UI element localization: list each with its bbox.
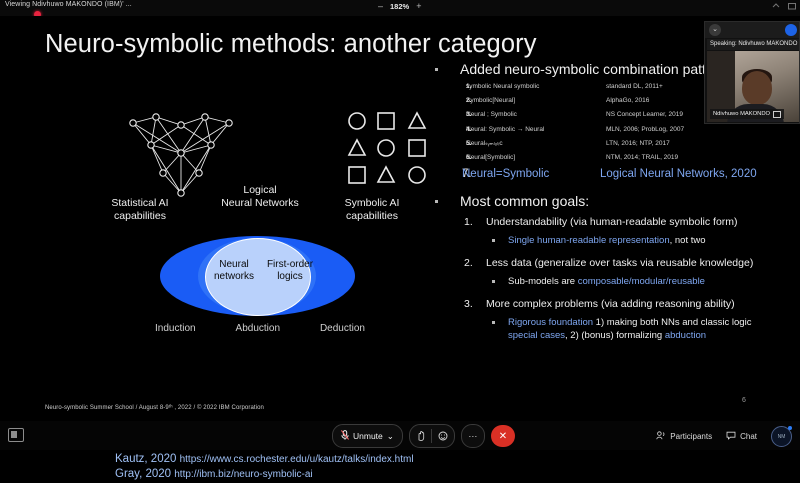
goal-2-sub: Sub-models are composable/modular/reusab…: [432, 275, 777, 288]
caption-lnn-line2: Neural Networks: [221, 197, 299, 209]
participant-name-text: Ndivhuwo MAKONDO: [713, 109, 770, 119]
unmute-button[interactable]: Unmute ⌄: [332, 424, 403, 448]
reference-1-text: Kautz, 2020: [115, 453, 180, 465]
toolbar-center-controls: Unmute ⌄ ··· ✕: [332, 424, 515, 448]
goal-3-text: More complex problems (via adding reason…: [486, 298, 735, 310]
meeting-screen-share-window: Viewing Ndivhuwo MAKONDO (IBM)' ... – 18…: [0, 0, 800, 450]
pattern-6-right: Logical Neural Networks, 2020: [600, 168, 760, 181]
reference-2-text: Gray, 2020: [115, 468, 174, 480]
zoom-out-button[interactable]: –: [378, 2, 383, 11]
video-tile-action-icon[interactable]: [785, 24, 797, 36]
venn-fol-line2: logics: [277, 271, 303, 282]
participants-button[interactable]: Participants: [656, 431, 712, 442]
pattern-4-left: Neuralₛᵧₘₗₒₗᵢᴄ: [466, 140, 606, 148]
reaction-smiley-icon[interactable]: [432, 431, 454, 441]
goal-3-sub: Rigorous foundation 1) making both NNs a…: [432, 316, 777, 342]
pattern-4-right: LTN, 2016; NTP, 2017: [606, 140, 756, 148]
pattern-0-number: 1.: [432, 83, 466, 91]
goal-2-sub-pre: Sub-models are: [508, 276, 578, 287]
symbolic-shapes-grid-icon: [345, 109, 445, 189]
goal-1-text: Understandability (via human-readable sy…: [486, 216, 738, 228]
video-feed: Ndivhuwo MAKONDO: [707, 51, 799, 122]
meeting-toolbar: Unmute ⌄ ··· ✕: [0, 421, 800, 450]
slide-page-number: 6: [742, 397, 746, 404]
raise-hand-icon[interactable]: [410, 431, 432, 441]
reasoning-mode-abduction: Abduction: [236, 323, 280, 334]
more-options-button[interactable]: ···: [461, 424, 485, 448]
pattern-6-number: 7.: [432, 168, 462, 181]
avatar[interactable]: NM: [771, 426, 792, 447]
reasoning-modes-row: Induction Abduction Deduction: [155, 323, 365, 334]
pattern-2-left: Neural ; Symbolic: [466, 111, 606, 119]
goal-1-sub-post: , not two: [670, 235, 706, 246]
pattern-1-number: 2.: [432, 97, 466, 105]
goal-3-number: 3.: [464, 297, 473, 311]
zoom-in-button[interactable]: +: [416, 2, 421, 11]
venn-label-first-order-logics: First-order logics: [264, 259, 316, 283]
venn-nn-line1: Neural: [219, 259, 248, 270]
goal-1-number: 1.: [464, 215, 473, 229]
venn-nn-line2: networks: [214, 271, 254, 282]
reference-1-url[interactable]: https://www.cs.rochester.edu/u/kautz/tal…: [180, 454, 414, 465]
goal-2: 2. Less data (generalize over tasks via …: [432, 256, 777, 270]
goal-3-sub-link2: special cases: [508, 330, 565, 341]
reference-row: Gray, 2020 http://ibm.biz/neuro-symbolic…: [115, 467, 414, 483]
reference-row: Kautz, 2020 https://www.cs.rochester.edu…: [115, 452, 414, 468]
pattern-3-right: MLN, 2006; ProbLog, 2007: [606, 126, 756, 134]
unmute-label: Unmute: [353, 431, 383, 441]
chat-label: Chat: [740, 432, 757, 441]
pattern-4-number: 5.: [432, 140, 466, 148]
bullet-goals-heading: Most common goals:: [432, 193, 777, 209]
viewing-label: Viewing Ndivhuwo MAKONDO (IBM)' ...: [5, 1, 132, 8]
goal-3-sub-link: Rigorous foundation: [508, 317, 593, 328]
zoom-controls[interactable]: – 182% +: [378, 2, 421, 11]
chevron-down-icon[interactable]: ⌄: [709, 24, 721, 36]
diagram-panel: Statistical AI capabilities Logical Neur…: [45, 101, 430, 341]
goal-3-sub-post: 1) making both NNs and classic logic: [593, 317, 751, 328]
goal-2-sub-link: composable/modular/reusable: [578, 276, 705, 287]
pattern-3-left: Neural: Symbolic → Neural: [466, 126, 606, 134]
goal-2-number: 2.: [464, 256, 473, 270]
minimize-icon[interactable]: [772, 2, 780, 10]
participant-name-label: Ndivhuwo MAKONDO: [710, 109, 784, 119]
fullscreen-icon[interactable]: [788, 2, 796, 10]
participants-icon: [656, 431, 666, 442]
chevron-down-icon[interactable]: ⌄: [387, 431, 394, 442]
reactions-group[interactable]: [409, 424, 455, 448]
toolbar-right-controls: Participants Chat NM: [656, 426, 792, 447]
reasoning-mode-deduction: Deduction: [320, 323, 365, 334]
slide-footer: Neuro-symbolic Summer School / August 8-…: [45, 405, 264, 411]
table-row-highlighted: 7. Neural=Symbolic Logical Neural Networ…: [432, 168, 777, 181]
caption-statistical-ai: Statistical AI capabilities: [75, 197, 205, 223]
microphone-muted-icon: [341, 430, 349, 442]
chat-button[interactable]: Chat: [726, 431, 757, 442]
self-video-tile[interactable]: ⌄ Speaking: Ndivhuwo MAKONDO (I Ndivhuwo…: [704, 21, 800, 124]
pattern-6-left: Neural=Symbolic: [462, 168, 600, 181]
venn-label-neural-networks: Neural networks: [208, 259, 260, 283]
table-row: 6. Neural[Symbolic] NTM, 2014; TRAIL, 20…: [432, 154, 777, 162]
caption-symbolic-ai-line1: Symbolic AI: [345, 197, 400, 209]
caption-lnn-line1: Logical: [243, 184, 276, 196]
goal-1: 1. Understandability (via human-readable…: [432, 215, 777, 229]
pattern-0-left: symbolic Neural symbolic: [466, 83, 606, 91]
pattern-2-number: 3.: [432, 111, 466, 119]
goal-1-sub: Single human-readable representation, no…: [432, 234, 777, 247]
pattern-5-left: Neural[Symbolic]: [466, 154, 606, 162]
goal-2-text: Less data (generalize over tasks via reu…: [486, 257, 753, 269]
caption-statistical-ai-line2: capabilities: [114, 210, 166, 222]
speaking-label: Speaking: Ndivhuwo MAKONDO (I: [707, 39, 800, 50]
video-person-head: [742, 71, 772, 105]
avatar-status-dot: [788, 426, 792, 430]
goal-3: 3. More complex problems (via adding rea…: [432, 297, 777, 311]
shared-slide: Neuro-symbolic methods: another category: [0, 16, 800, 421]
chat-bubble-icon: [726, 431, 736, 442]
caption-statistical-ai-line1: Statistical AI: [111, 197, 168, 209]
leave-meeting-button[interactable]: ✕: [491, 425, 515, 447]
caption-symbolic-ai-line2: capabilities: [346, 210, 398, 222]
reasoning-mode-induction: Induction: [155, 323, 196, 334]
pattern-3-number: 4.: [432, 126, 466, 134]
pattern-5-number: 6.: [432, 154, 466, 162]
venn-fol-line1: First-order: [267, 259, 313, 270]
reference-2-url[interactable]: http://ibm.biz/neuro-symbolic-ai: [174, 469, 312, 480]
zoom-level-value: 182%: [390, 2, 409, 11]
page-title: Neuro-symbolic methods: another category: [45, 30, 537, 59]
goals-section: Most common goals: 1. Understandability …: [432, 193, 777, 342]
video-on-icon: [773, 111, 781, 118]
neural-network-graph-icon: [123, 111, 243, 191]
table-row: 4. Neural: Symbolic → Neural MLN, 2006; …: [432, 126, 777, 134]
participants-label: Participants: [670, 432, 712, 441]
screen-share-indicator-icon[interactable]: [8, 428, 24, 442]
window-controls[interactable]: [772, 2, 796, 10]
goal-3-sub-link3: abduction: [665, 330, 706, 341]
window-top-bar: Viewing Ndivhuwo MAKONDO (IBM)' ... – 18…: [0, 0, 800, 16]
avatar-initials: NM: [778, 434, 786, 440]
pattern-1-left: Symbolic[Neural]: [466, 97, 606, 105]
pattern-5-right: NTM, 2014; TRAIL, 2019: [606, 154, 756, 162]
goal-1-sub-link: Single human-readable representation: [508, 235, 670, 246]
caption-symbolic-ai: Symbolic AI capabilities: [307, 197, 437, 223]
table-row: 5. Neuralₛᵧₘₗₒₗᵢᴄ LTN, 2016; NTP, 2017: [432, 140, 777, 148]
goal-3-sub-post2: , 2) (bonus) formalizing: [565, 330, 665, 341]
venn-diagram: Neural networks First-order logics: [160, 236, 355, 316]
caption-logical-neural-networks: Logical Neural Networks: [195, 184, 325, 210]
